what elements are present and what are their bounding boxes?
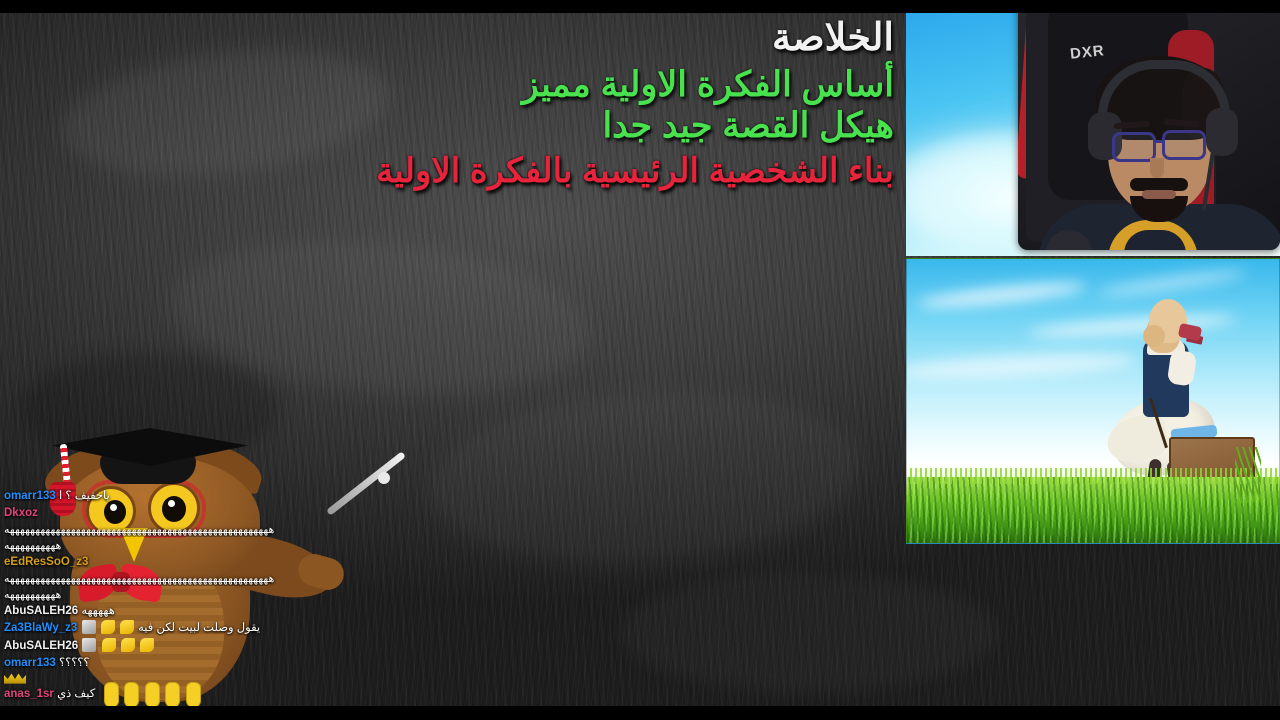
chat-username[interactable]: Za3BlaWy_z3 bbox=[4, 622, 77, 634]
grass-sprig bbox=[1235, 447, 1261, 503]
chat-text: ههههههههههه bbox=[4, 589, 61, 601]
stream-screen: الخلاصة أساس الفكرة الاولية مميز هيكل ال… bbox=[0, 0, 1280, 720]
chat-message: anas_1sr كيف ذي bbox=[4, 673, 374, 702]
person-nose bbox=[1150, 158, 1164, 178]
anime-scene-image bbox=[906, 258, 1280, 544]
character-sleeve bbox=[1167, 349, 1197, 386]
chat-emote-icon bbox=[82, 620, 96, 634]
grass-field bbox=[907, 477, 1279, 543]
chat-message: هههههههههههههههههههههههههههههههههههههههه… bbox=[4, 523, 374, 537]
chat-username[interactable]: anas_1sr bbox=[4, 688, 54, 700]
chat-text: هههههه bbox=[81, 605, 114, 617]
chat-overlay[interactable]: omarr133 ياخفيف ؟ ا Dkxoz هههههههههههههه… bbox=[4, 489, 374, 704]
chat-username[interactable]: eEdResSoO_z3 bbox=[4, 556, 88, 568]
eyeglasses-lens bbox=[1162, 130, 1206, 160]
eyeglasses-bridge bbox=[1154, 140, 1164, 143]
cloud-streak bbox=[917, 278, 1088, 312]
chat-emote-icon bbox=[102, 638, 116, 652]
chat-message: هههههههههههههههههههههههههههههههههههههههه… bbox=[4, 572, 374, 586]
chat-message: ههههههههههه bbox=[4, 588, 374, 602]
chat-text: هههههههههههههههههههههههههههههههههههههههه… bbox=[4, 524, 274, 536]
chat-message: ههههههههههه bbox=[4, 539, 374, 553]
webcam-overlay[interactable]: DXR bbox=[1018, 0, 1280, 250]
chat-username[interactable]: omarr133 bbox=[4, 490, 56, 502]
lesson-title: الخلاصة bbox=[194, 18, 894, 59]
chat-message: omarr133 ؟؟؟؟؟ bbox=[4, 656, 374, 671]
chalk-smudge bbox=[164, 225, 595, 411]
chalk-smudge bbox=[620, 573, 1000, 693]
chat-text: ههههههههههه bbox=[4, 540, 61, 552]
chat-message: AbuSALEH26 bbox=[4, 638, 374, 654]
person-mouth bbox=[1142, 190, 1176, 199]
letterbox-bar-bottom bbox=[0, 706, 1280, 720]
chat-text: ؟؟؟؟؟ bbox=[59, 657, 90, 669]
chat-username[interactable]: Dkxoz bbox=[4, 507, 38, 519]
chat-emote-icon bbox=[101, 620, 115, 634]
chat-message: omarr133 ياخفيف ؟ ا bbox=[4, 489, 374, 504]
cloud-streak bbox=[1097, 267, 1247, 300]
cloud-streak bbox=[906, 349, 1137, 384]
chat-text: هههههههههههههههههههههههههههههههههههههههه… bbox=[4, 573, 274, 585]
lesson-line-3: بناء الشخصية الرئيسية بالفكرة الاولية bbox=[194, 153, 894, 190]
chat-emote-icon bbox=[120, 620, 134, 634]
chat-username[interactable]: omarr133 bbox=[4, 657, 56, 669]
chat-emote-icon bbox=[140, 638, 154, 652]
crown-badge-icon bbox=[4, 673, 26, 684]
lesson-text-block: الخلاصة أساس الفكرة الاولية مميز هيكل ال… bbox=[194, 18, 894, 189]
chat-message: eEdResSoO_z3 bbox=[4, 555, 374, 570]
character-hair-bun bbox=[1143, 325, 1165, 347]
chat-message: Dkxoz bbox=[4, 506, 374, 521]
chat-emote-icon bbox=[121, 638, 135, 652]
lesson-line-2: هيكل القصة جيد جدا bbox=[194, 107, 894, 145]
chat-emote-icon bbox=[82, 638, 96, 652]
lesson-line-1: أساس الفكرة الاولية مميز bbox=[194, 66, 894, 104]
chat-text: كيف ذي bbox=[57, 688, 95, 700]
chat-text: يقول وصلت لبيت لكن فيه bbox=[138, 622, 260, 634]
chat-text: ياخفيف ؟ ا bbox=[59, 490, 110, 502]
chalk-smudge bbox=[425, 378, 866, 578]
chat-message: AbuSALEH26 هههههه bbox=[4, 604, 374, 619]
letterbox-bar-top bbox=[0, 0, 1280, 13]
chat-username[interactable]: AbuSALEH26 bbox=[4, 640, 78, 652]
chat-username[interactable]: AbuSALEH26 bbox=[4, 605, 78, 617]
chat-message: Za3BlaWy_z3 يقول وصلت لبيت لكن فيه bbox=[4, 620, 374, 636]
streamer-person bbox=[1072, 54, 1258, 250]
